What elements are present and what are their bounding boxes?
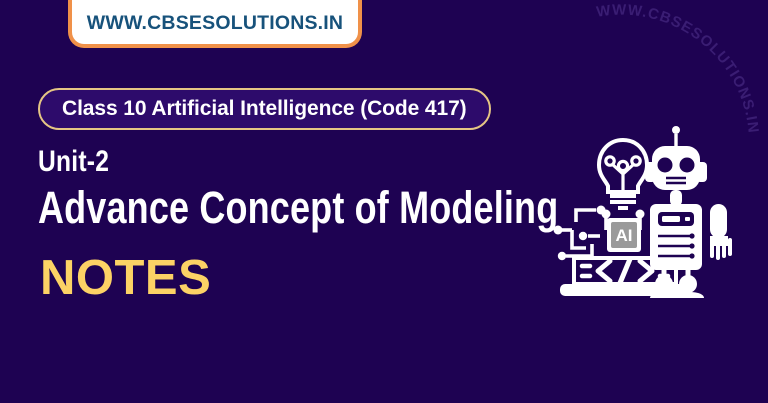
ai-chip-icon: AI bbox=[607, 218, 641, 252]
robot-icon bbox=[645, 126, 730, 298]
ai-chip-label: AI bbox=[616, 226, 633, 245]
ai-notes-banner: WWW.CBSESOLUTIONS.IN WWW.CBSESOLUTIONS.I… bbox=[0, 0, 768, 403]
notes-label: NOTES bbox=[40, 250, 211, 306]
site-url-ribbon: WWW.CBSESOLUTIONS.IN bbox=[68, 0, 362, 48]
unit-label: Unit-2 bbox=[38, 145, 109, 179]
ai-illustration: AI bbox=[552, 118, 748, 298]
watermark-text: WWW.CBSESOLUTIONS.IN bbox=[595, 2, 761, 135]
unit-title: Advance Concept of Modeling bbox=[38, 184, 558, 231]
course-badge: Class 10 Artificial Intelligence (Code 4… bbox=[38, 88, 491, 130]
site-url-text: WWW.CBSESOLUTIONS.IN bbox=[87, 12, 343, 35]
lightbulb-icon bbox=[599, 140, 647, 208]
course-badge-label: Class 10 Artificial Intelligence (Code 4… bbox=[62, 97, 467, 121]
